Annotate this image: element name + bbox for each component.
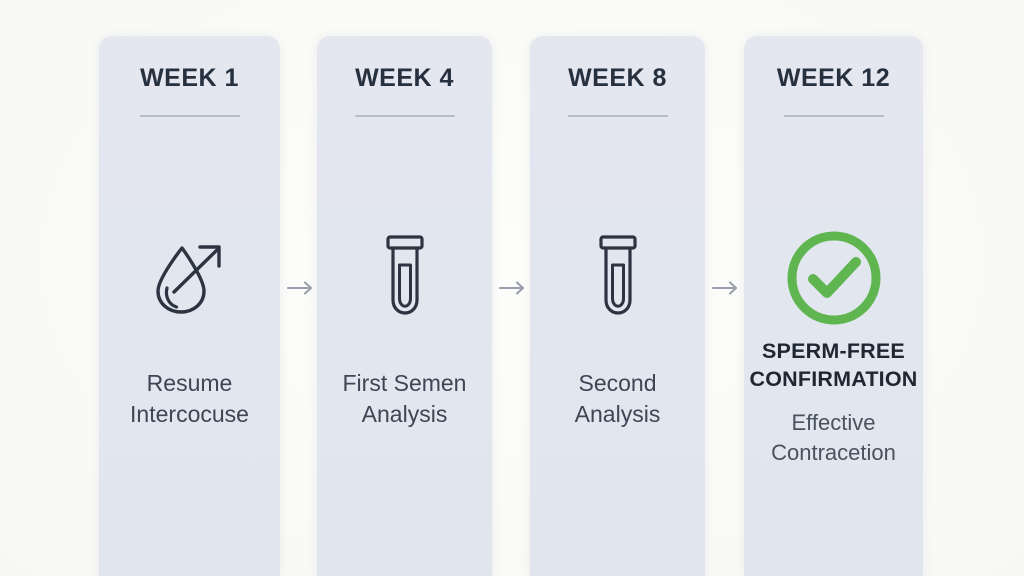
week-label: WEEK 12 — [744, 66, 923, 91]
test-tube-icon — [317, 216, 492, 336]
header-divider — [140, 115, 240, 117]
step-emphasis-text: SPERM-FREE CONFIRMATION — [728, 338, 939, 393]
step-caption: First Semen Analysis — [303, 368, 506, 429]
week-label: WEEK 1 — [99, 66, 280, 91]
week-label: WEEK 8 — [530, 66, 705, 91]
check-circle-icon — [744, 218, 923, 338]
arrow-right-icon — [706, 274, 746, 302]
test-tube-icon — [530, 216, 705, 336]
timeline-step-card-week-1: WEEK 1 Resume Intercocuse — [99, 36, 280, 576]
timeline-infographic: WEEK 1 Resume Intercocuse — [0, 0, 1024, 576]
arrow-right-icon — [493, 274, 533, 302]
arrow-right-icon — [281, 274, 321, 302]
timeline-step-card-week-4: WEEK 4 First Semen Analysis — [317, 36, 492, 576]
timeline-step-card-week-12: WEEK 12 SPERM-FREE CONFIRMATION Effectiv… — [744, 36, 923, 576]
week-label: WEEK 4 — [317, 66, 492, 91]
header-divider — [784, 115, 884, 117]
step-caption: Second Analysis — [516, 368, 719, 429]
timeline-step-card-week-8: WEEK 8 Second Analysis — [530, 36, 705, 576]
step-subcaption: Effective Contracetion — [730, 408, 937, 467]
droplet-male-symbol-icon — [99, 216, 280, 336]
step-caption: Resume Intercocuse — [85, 368, 294, 429]
header-divider — [355, 115, 455, 117]
header-divider — [568, 115, 668, 117]
